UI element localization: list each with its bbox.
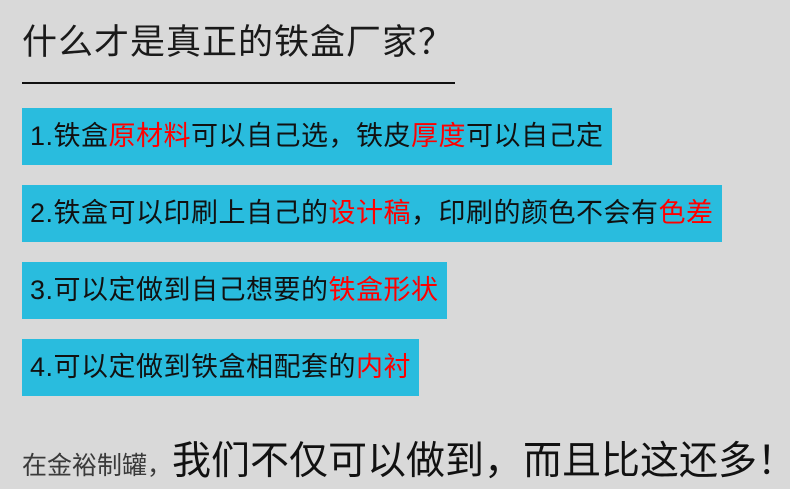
bullet-highlight-text: 内衬: [356, 352, 411, 382]
bullet-text: 3.可以定做到自己想要的: [30, 275, 329, 305]
footer-brand-name: 金裕制罐: [47, 452, 147, 480]
page-title: 什么才是真正的铁盒厂家？: [22, 22, 462, 64]
footer-claim-text: 我们不仅可以做到，而且比这还多！: [172, 440, 790, 483]
poster-canvas: 什么才是真正的铁盒厂家？ 1.铁盒原材料可以自己选，铁皮厚度可以自己定 2.铁盒…: [0, 0, 790, 489]
bullet-highlight-text: 设计稿: [329, 198, 412, 228]
bullet-item-1: 1.铁盒原材料可以自己选，铁皮厚度可以自己定: [22, 108, 612, 165]
footer-comma: ，: [147, 452, 172, 480]
bullet-row: 2.铁盒可以印刷上自己的设计稿，印刷的颜色不会有色差: [22, 185, 762, 242]
footer-prefix: 在: [22, 452, 47, 480]
bullet-item-3: 3.可以定做到自己想要的铁盒形状: [22, 262, 447, 319]
bullet-row: 3.可以定做到自己想要的铁盒形状: [22, 262, 762, 319]
title-underline-divider: [22, 82, 455, 84]
bullet-text: 可以自己定: [466, 121, 604, 151]
footer-statement: 在金裕制罐，我们不仅可以做到，而且比这还多！: [22, 430, 790, 486]
bullet-text: 2.铁盒可以印刷上自己的: [30, 198, 329, 228]
bullet-row: 4.可以定做到铁盒相配套的内衬: [22, 339, 762, 396]
bullet-highlight-text: 铁盒形状: [329, 275, 439, 305]
bullet-item-2: 2.铁盒可以印刷上自己的设计稿，印刷的颜色不会有色差: [22, 185, 722, 242]
bullet-list: 1.铁盒原材料可以自己选，铁皮厚度可以自己定 2.铁盒可以印刷上自己的设计稿，印…: [22, 108, 762, 416]
bullet-text: 1.铁盒: [30, 121, 109, 151]
bullet-text: 4.可以定做到铁盒相配套的: [30, 352, 356, 382]
bullet-highlight-text: 色差: [659, 198, 714, 228]
title-block: 什么才是真正的铁盒厂家？: [22, 22, 462, 84]
bullet-item-4: 4.可以定做到铁盒相配套的内衬: [22, 339, 419, 396]
bullet-text: ，印刷的颜色不会有: [411, 198, 659, 228]
bullet-row: 1.铁盒原材料可以自己选，铁皮厚度可以自己定: [22, 108, 762, 165]
bullet-text: 可以自己选，铁皮: [191, 121, 411, 151]
bullet-highlight-text: 厚度: [411, 121, 466, 151]
bullet-highlight-text: 原材料: [109, 121, 192, 151]
